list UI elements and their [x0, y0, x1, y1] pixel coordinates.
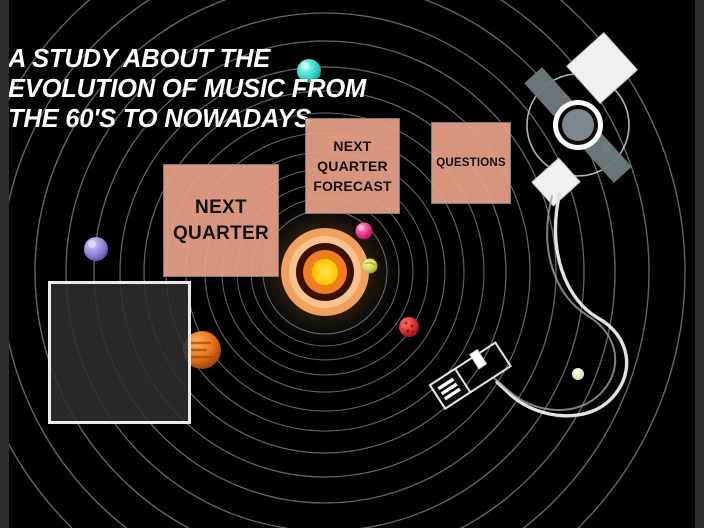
letterbox-bar-left [0, 0, 9, 528]
planet-pale [572, 368, 584, 380]
planet-pink [356, 223, 373, 240]
presentation-slide: A Study About the Evolution of Music Fro… [0, 0, 704, 528]
planet-purple [84, 237, 108, 261]
letterbox-bar-right [695, 0, 704, 528]
card-questions[interactable]: Questions [431, 122, 511, 204]
pivot-bolt [601, 143, 612, 154]
card-dark-frame[interactable] [48, 281, 191, 424]
planet-red [399, 317, 419, 337]
card-next-quarter-forecast[interactable]: Next Quarter Forecast [305, 118, 400, 214]
card-next-quarter[interactable]: Next Quarter [163, 164, 279, 277]
planet-yellowgreen [363, 259, 378, 274]
tonearm-pivot-hub [562, 109, 594, 141]
